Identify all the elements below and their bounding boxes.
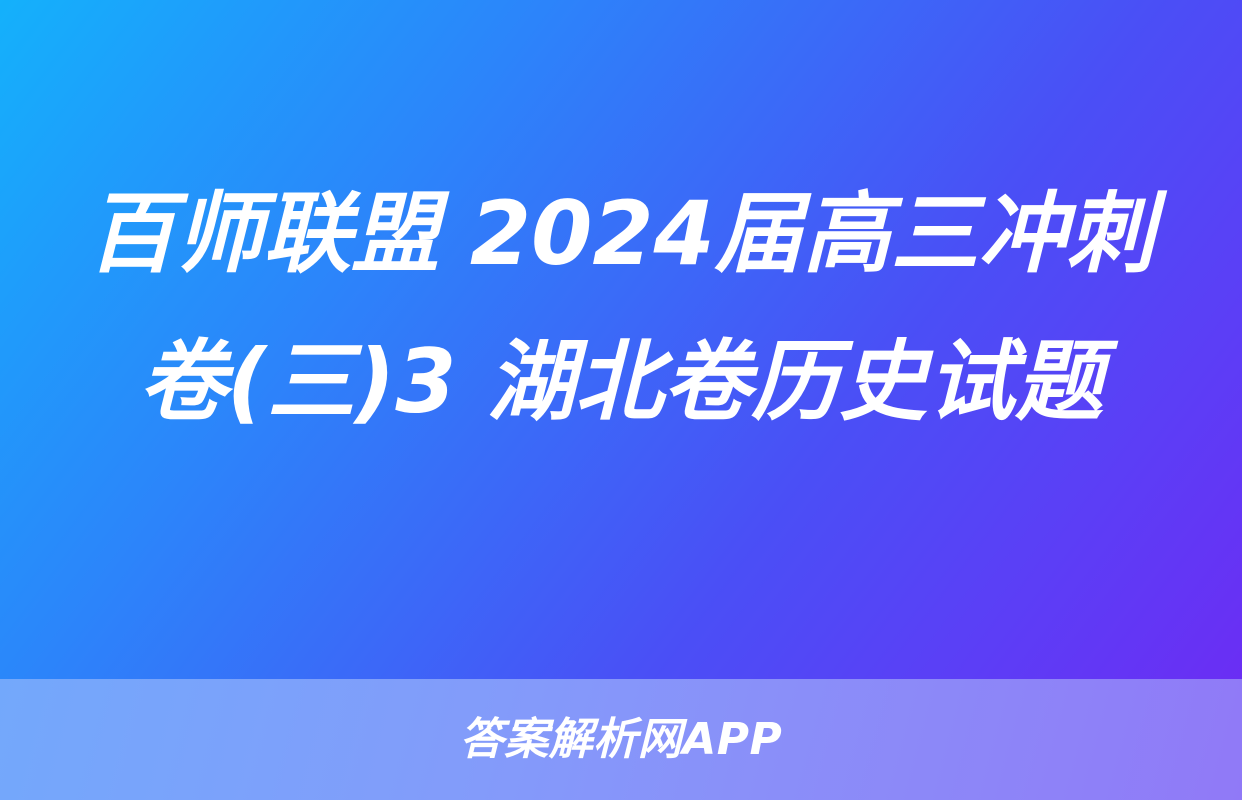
title-block: 百师联盟 2024届高三冲刺卷(三)3 湖北卷历史试题 <box>0 160 1242 630</box>
footer-watermark-area: 答案解析网APP <box>0 679 1242 800</box>
share-card: 百师联盟 2024届高三冲刺卷(三)3 湖北卷历史试题 答案解析网APP <box>0 0 1242 800</box>
app-watermark-label: 答案解析网APP <box>460 714 783 766</box>
page-title: 百师联盟 2024届高三冲刺卷(三)3 湖北卷历史试题 <box>70 160 1172 456</box>
